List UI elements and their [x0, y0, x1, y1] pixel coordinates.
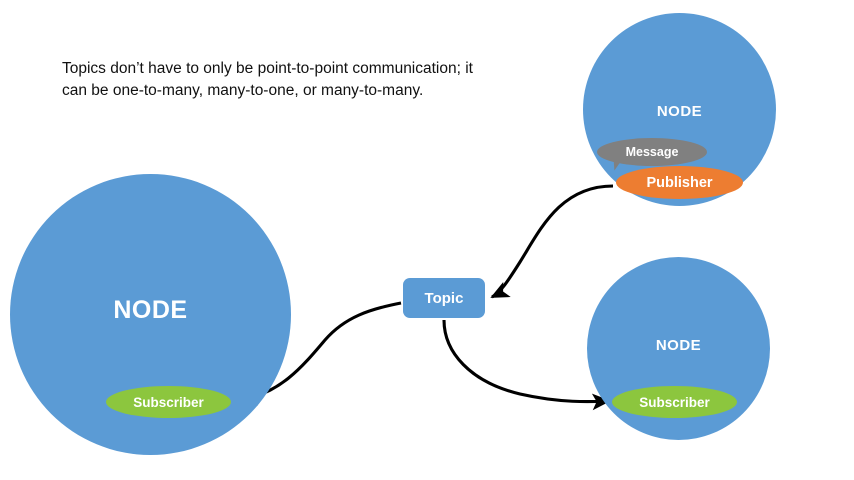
subscriber-left-label: Subscriber: [133, 395, 204, 410]
caption-text: Topics don’t have to only be point-to-po…: [62, 58, 482, 103]
topic-label: Topic: [425, 290, 464, 307]
node-bottom-right-label: NODE: [587, 337, 770, 354]
message-bubble-body: Message: [597, 138, 707, 166]
message-label: Message: [626, 145, 679, 159]
topic-box[interactable]: Topic: [403, 278, 485, 318]
node-left-label: NODE: [10, 296, 291, 325]
message-bubble[interactable]: Message: [597, 138, 707, 166]
publisher-ellipse[interactable]: Publisher: [616, 166, 743, 199]
edge-topic-to-bottom-right-subscriber: [444, 320, 609, 402]
edge-publisher-to-topic: [492, 186, 613, 297]
publisher-label: Publisher: [646, 175, 712, 191]
subscriber-left[interactable]: Subscriber: [106, 386, 231, 418]
subscriber-bottom-right[interactable]: Subscriber: [612, 386, 737, 418]
subscriber-bottom-right-label: Subscriber: [639, 395, 710, 410]
diagram-canvas: Topics don’t have to only be point-to-po…: [0, 0, 854, 480]
node-publisher-label: NODE: [583, 103, 776, 120]
